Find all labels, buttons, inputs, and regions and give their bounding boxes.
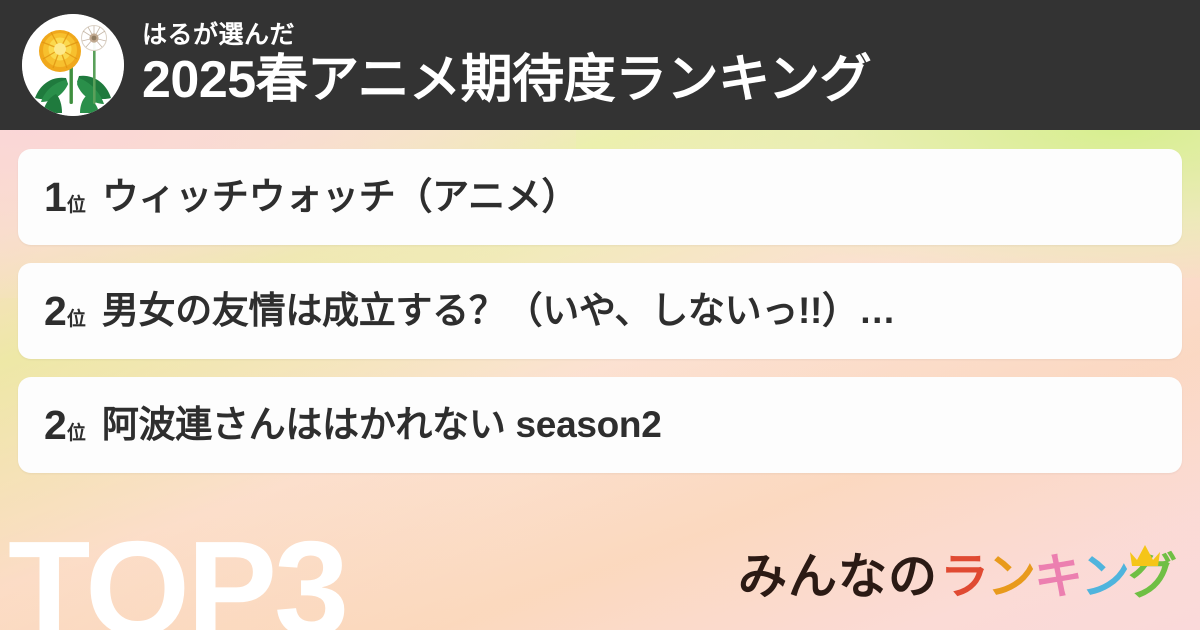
rank-badge: 2 位 — [44, 291, 86, 332]
poster-subtitle: はるが選んだ — [142, 22, 1178, 48]
rank-badge: 1 位 — [44, 177, 86, 218]
rank-number: 1 — [44, 177, 66, 218]
list-item[interactable]: 2 位 阿波連さんははかれない season2 — [18, 377, 1182, 473]
rank-unit: 位 — [67, 424, 86, 443]
page-title: 2025春アニメ期待度ランキング — [142, 52, 1178, 108]
rank-unit: 位 — [67, 196, 86, 215]
svg-text:キ: キ — [1034, 550, 1083, 604]
svg-text:ラ: ラ — [940, 550, 989, 604]
header-titles: はるが選んだ 2025春アニメ期待度ランキング — [142, 22, 1178, 107]
rank-number: 2 — [44, 405, 66, 446]
minna-no-ranking-logo[interactable]: み ん な の ラ ン キ ン グ — [738, 536, 1178, 608]
rank-title: 阿波連さんははかれない season2 — [102, 404, 1156, 447]
svg-text:の: の — [888, 550, 937, 604]
poster-header: はるが選んだ 2025春アニメ期待度ランキング — [0, 0, 1200, 130]
svg-text:ん: ん — [788, 550, 837, 604]
ranking-list: 1 位 ウィッチウォッチ（アニメ） 2 位 男女の友情は成立する？（いや、しない… — [18, 149, 1182, 491]
svg-text:グ: グ — [1128, 550, 1177, 604]
rank-number: 2 — [44, 291, 66, 332]
avatar — [22, 14, 124, 116]
list-item[interactable]: 2 位 男女の友情は成立する？（いや、しないっ!!）… — [18, 263, 1182, 359]
svg-text:み: み — [738, 550, 787, 604]
dandelion-flower-icon — [22, 14, 124, 116]
rank-title: ウィッチウォッチ（アニメ） — [102, 176, 1156, 219]
svg-text:な: な — [838, 550, 887, 604]
rank-unit: 位 — [67, 310, 86, 329]
list-item[interactable]: 1 位 ウィッチウォッチ（アニメ） — [18, 149, 1182, 245]
top3-label: TOP3 — [8, 521, 346, 630]
svg-text:ン: ン — [1081, 550, 1130, 604]
svg-text:ン: ン — [987, 550, 1036, 604]
logo-wordmark-icon: み ん な の ラ ン キ ン グ — [738, 536, 1178, 608]
rank-title: 男女の友情は成立する？（いや、しないっ!!）… — [102, 290, 1156, 333]
rank-badge: 2 位 — [44, 405, 86, 446]
ranking-poster: はるが選んだ 2025春アニメ期待度ランキング 1 位 ウィッチウォッチ（アニメ… — [0, 0, 1200, 630]
